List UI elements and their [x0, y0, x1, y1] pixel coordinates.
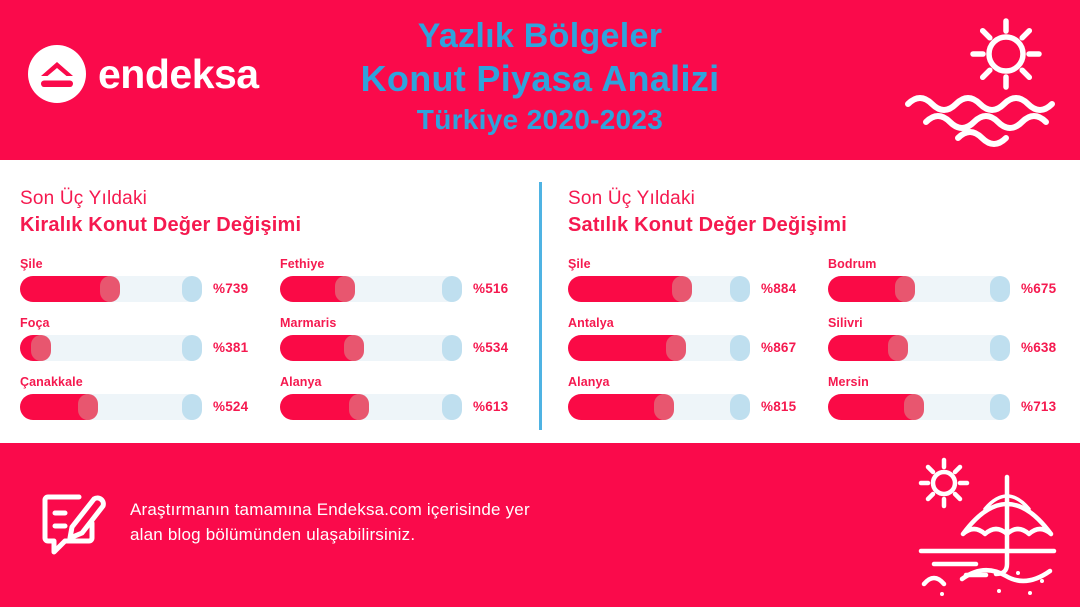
bar-fill [568, 335, 686, 361]
bar-row: %884 [568, 276, 820, 302]
bar-item: Foça %381 [20, 316, 272, 361]
bar-label: Şile [20, 257, 272, 271]
fill-end-cap-icon [100, 276, 120, 302]
bar-fill [828, 394, 924, 420]
bar-track [280, 394, 462, 420]
beach-umbrella-sun-icon [896, 451, 1066, 599]
track-end-cap-icon [442, 335, 462, 361]
bar-item: Alanya %613 [280, 375, 532, 420]
bar-item: Şile %739 [20, 257, 272, 302]
bar-row: %638 [828, 335, 1080, 361]
fill-end-cap-icon [672, 276, 692, 302]
footer-note: Araştırmanın tamamına Endeksa.com içeris… [34, 485, 530, 559]
bar-label: Foça [20, 316, 272, 330]
bar-row: %713 [828, 394, 1080, 420]
main-content: Son Üç Yıldaki Kiralık Konut Değer Değiş… [0, 160, 1080, 443]
fill-end-cap-icon [888, 335, 908, 361]
bar-track [568, 394, 750, 420]
bar-label: Marmaris [280, 316, 532, 330]
fill-end-cap-icon [666, 335, 686, 361]
track-end-cap-icon [990, 335, 1010, 361]
bar-fill [20, 276, 120, 302]
bar-item: Antalya %867 [568, 316, 820, 361]
track-end-cap-icon [182, 335, 202, 361]
bar-label: Alanya [568, 375, 820, 389]
bar-track [280, 276, 462, 302]
track-end-cap-icon [182, 394, 202, 420]
bar-item: Marmaris %534 [280, 316, 532, 361]
bar-label: Mersin [828, 375, 1080, 389]
bar-track [828, 335, 1010, 361]
bar-value: %516 [473, 281, 508, 296]
bar-row: %675 [828, 276, 1080, 302]
panel-kiralik-heading: Son Üç Yıldaki Kiralık Konut Değer Değiş… [20, 186, 525, 239]
bar-value: %524 [213, 399, 248, 414]
bar-track [828, 394, 1010, 420]
bar-item: Mersin %713 [828, 375, 1080, 420]
bar-row: %613 [280, 394, 532, 420]
bar-row: %867 [568, 335, 820, 361]
infographic-root: endeksa Yazlık Bölgeler Konut Piyasa Ana… [0, 0, 1080, 607]
track-end-cap-icon [442, 394, 462, 420]
bar-fill [828, 276, 915, 302]
track-end-cap-icon [182, 276, 202, 302]
bar-label: Antalya [568, 316, 820, 330]
bar-item: Silivri %638 [828, 316, 1080, 361]
track-end-cap-icon [730, 394, 750, 420]
bar-fill [20, 335, 51, 361]
bar-label: Şile [568, 257, 820, 271]
fill-end-cap-icon [349, 394, 369, 420]
bar-fill [568, 394, 674, 420]
track-end-cap-icon [730, 335, 750, 361]
bar-item: Fethiye %516 [280, 257, 532, 302]
sun-and-waves-icon [896, 8, 1066, 148]
bar-label: Silivri [828, 316, 1080, 330]
bar-value: %815 [761, 399, 796, 414]
header-banner: endeksa Yazlık Bölgeler Konut Piyasa Ana… [0, 0, 1080, 160]
bar-track [568, 335, 750, 361]
bar-fill [280, 276, 355, 302]
bar-fill [280, 335, 364, 361]
bar-label: Alanya [280, 375, 532, 389]
bar-track [20, 394, 202, 420]
bar-item: Alanya %815 [568, 375, 820, 420]
bar-track [568, 276, 750, 302]
bar-item: Bodrum %675 [828, 257, 1080, 302]
fill-end-cap-icon [895, 276, 915, 302]
bar-value: %638 [1021, 340, 1056, 355]
bar-row: %381 [20, 335, 272, 361]
footer-banner: Araştırmanın tamamına Endeksa.com içeris… [0, 443, 1080, 607]
fill-end-cap-icon [335, 276, 355, 302]
bar-track [20, 276, 202, 302]
bar-track [20, 335, 202, 361]
fill-end-cap-icon [654, 394, 674, 420]
bar-value: %867 [761, 340, 796, 355]
panel-satilik-heading: Son Üç Yıldaki Satılık Konut Değer Değiş… [568, 186, 1068, 239]
panel-divider [539, 182, 542, 430]
panel-satilik: Son Üç Yıldaki Satılık Konut Değer Değiş… [568, 160, 1068, 420]
bar-fill [20, 394, 98, 420]
bar-label: Çanakkale [20, 375, 272, 389]
panel-kiralik-subtitle: Son Üç Yıldaki [20, 186, 525, 212]
bar-value: %739 [213, 281, 248, 296]
bar-item: Şile %884 [568, 257, 820, 302]
panel-kiralik-bars: Şile %739 Fethiye [20, 257, 525, 420]
fill-end-cap-icon [78, 394, 98, 420]
panel-kiralik-title: Kiralık Konut Değer Değişimi [20, 212, 525, 239]
panel-kiralik: Son Üç Yıldaki Kiralık Konut Değer Değiş… [20, 160, 525, 420]
note-pencil-icon [34, 485, 108, 559]
bar-row: %516 [280, 276, 532, 302]
fill-end-cap-icon [31, 335, 51, 361]
bar-row: %739 [20, 276, 272, 302]
bar-value: %534 [473, 340, 508, 355]
panel-satilik-title: Satılık Konut Değer Değişimi [568, 212, 1068, 239]
bar-value: %381 [213, 340, 248, 355]
fill-end-cap-icon [904, 394, 924, 420]
track-end-cap-icon [730, 276, 750, 302]
bar-label: Fethiye [280, 257, 532, 271]
fill-end-cap-icon [344, 335, 364, 361]
track-end-cap-icon [442, 276, 462, 302]
bar-value: %884 [761, 281, 796, 296]
bar-value: %675 [1021, 281, 1056, 296]
bar-row: %524 [20, 394, 272, 420]
bar-row: %815 [568, 394, 820, 420]
track-end-cap-icon [990, 276, 1010, 302]
track-end-cap-icon [990, 394, 1010, 420]
bar-track [828, 276, 1010, 302]
bar-fill [828, 335, 908, 361]
footer-text-line-1: Araştırmanın tamamına Endeksa.com içeris… [130, 497, 530, 523]
bar-row: %534 [280, 335, 532, 361]
bar-value: %613 [473, 399, 508, 414]
bar-fill [568, 276, 692, 302]
bar-label: Bodrum [828, 257, 1080, 271]
panel-satilik-bars: Şile %884 Bodrum [568, 257, 1068, 420]
bar-item: Çanakkale %524 [20, 375, 272, 420]
footer-text: Araştırmanın tamamına Endeksa.com içeris… [130, 497, 530, 548]
bar-track [280, 335, 462, 361]
panel-satilik-subtitle: Son Üç Yıldaki [568, 186, 1068, 212]
bar-fill [280, 394, 369, 420]
footer-text-line-2: alan blog bölümünden ulaşabilirsiniz. [130, 522, 530, 548]
bar-value: %713 [1021, 399, 1056, 414]
